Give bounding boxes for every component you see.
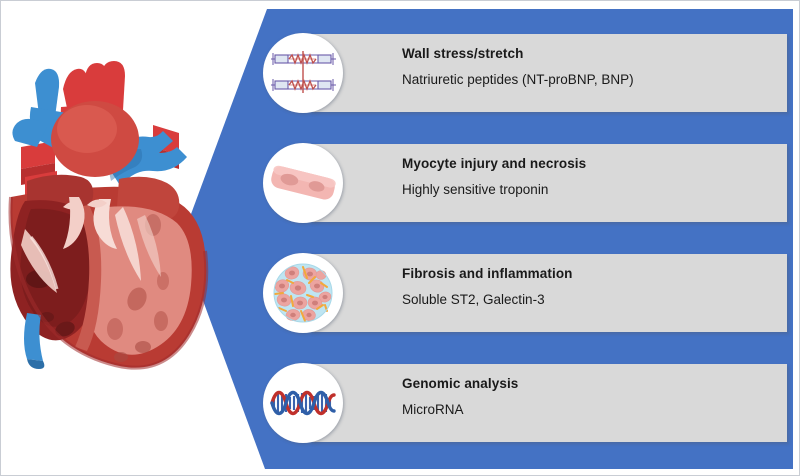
row-text: Myocyte injury and necrosis Highly sensi… <box>402 155 782 198</box>
heart-illustration <box>3 29 243 389</box>
cardiomyocyte-cell-icon <box>263 143 343 223</box>
row-subtitle: Soluble ST2, Galectin-3 <box>402 291 782 308</box>
row-subtitle: MicroRNA <box>402 401 782 418</box>
row-title: Wall stress/stretch <box>402 45 782 62</box>
row-title: Fibrosis and inflammation <box>402 265 782 282</box>
row-text: Fibrosis and inflammation Soluble ST2, G… <box>402 265 782 308</box>
row-subtitle: Natriuretic peptides (NT-proBNP, BNP) <box>402 71 782 88</box>
row-text: Wall stress/stretch Natriuretic peptides… <box>402 45 782 88</box>
row-title: Myocyte injury and necrosis <box>402 155 782 172</box>
fibrotic-tissue-cluster-icon <box>263 253 343 333</box>
biomarker-figure: Wall stress/stretch Natriuretic peptides… <box>0 0 800 476</box>
dna-double-helix-icon <box>263 363 343 443</box>
row-title: Genomic analysis <box>402 375 782 392</box>
sarcomere-myofilament-icon <box>263 33 343 113</box>
row-text: Genomic analysis MicroRNA <box>402 375 782 418</box>
row-subtitle: Highly sensitive troponin <box>402 181 782 198</box>
